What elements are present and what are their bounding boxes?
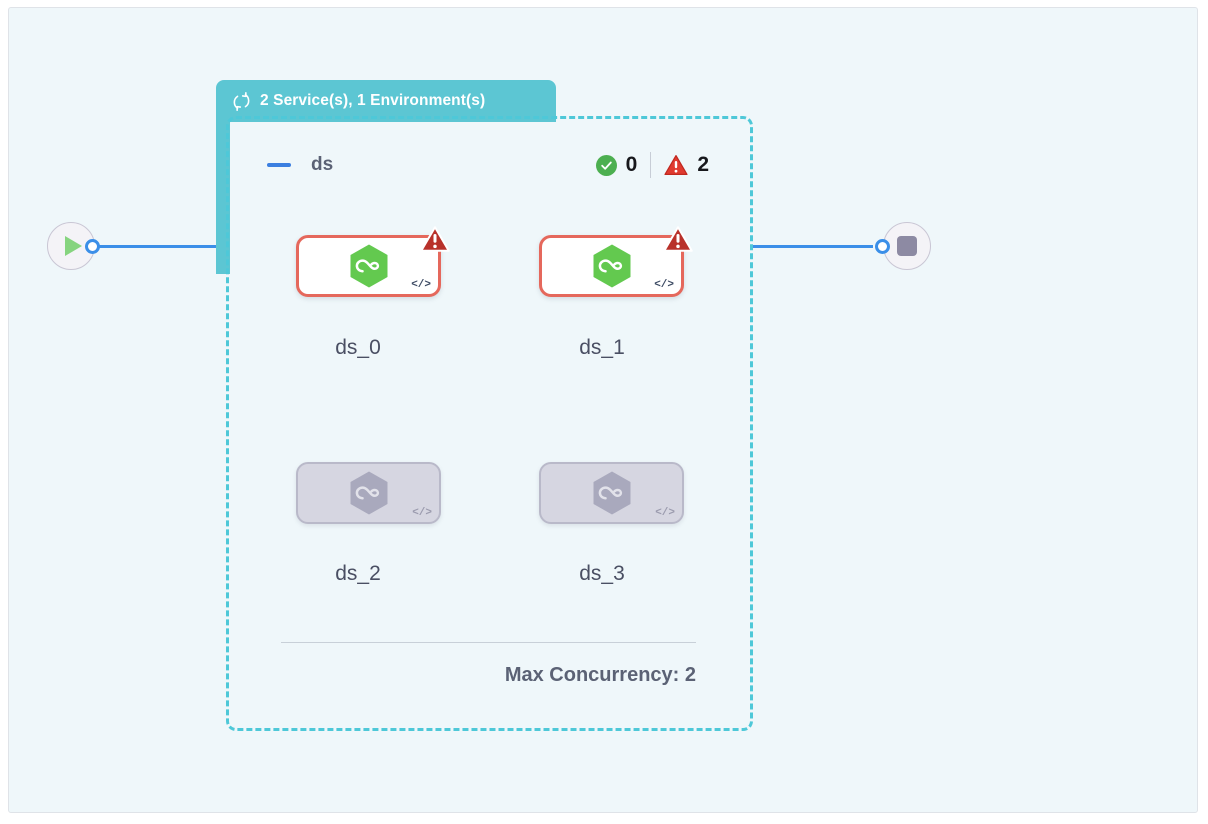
service-node-ds_3[interactable]: </> — [539, 462, 684, 524]
group-footer-divider — [281, 642, 696, 643]
collapse-minus-icon[interactable] — [267, 163, 291, 167]
warning-triangle-icon — [664, 154, 688, 176]
ok-count: 0 — [626, 153, 638, 177]
max-concurrency-label: Max Concurrency: 2 — [296, 664, 696, 687]
loop-icon — [232, 92, 251, 111]
service-node-ds_0[interactable]: </> — [296, 235, 441, 297]
status-separator — [650, 152, 651, 178]
check-circle-icon — [596, 155, 617, 176]
node-hexagon-icon — [591, 243, 633, 289]
group-tab-label: 2 Service(s), 1 Environment(s) — [260, 92, 485, 110]
diagram-canvas[interactable]: 2 Service(s), 1 Environment(s) ds 0 — [8, 7, 1198, 813]
workflow-canvas-page: 2 Service(s), 1 Environment(s) ds 0 — [0, 0, 1208, 824]
stop-icon — [897, 236, 917, 256]
edge-group-to-end[interactable] — [753, 245, 873, 248]
node-hexagon-icon — [348, 243, 390, 289]
warn-count: 2 — [697, 153, 709, 177]
service-node-label-ds_1: ds_1 — [502, 336, 702, 360]
group-container[interactable] — [226, 116, 753, 731]
service-node-ds_2[interactable]: </> — [296, 462, 441, 524]
code-icon: </> — [411, 279, 431, 291]
group-status-summary: 0 2 — [596, 152, 709, 178]
code-icon: </> — [412, 507, 432, 519]
service-node-label-ds_3: ds_3 — [502, 562, 702, 586]
node-hexagon-icon — [348, 470, 390, 516]
end-node[interactable] — [883, 222, 931, 270]
service-node-label-ds_2: ds_2 — [258, 562, 458, 586]
end-node-input-handle[interactable] — [875, 239, 890, 254]
group-title: ds — [311, 154, 333, 176]
service-node-label-ds_0: ds_0 — [258, 336, 458, 360]
code-icon: </> — [655, 507, 675, 519]
code-icon: </> — [654, 279, 674, 291]
warning-triangle-icon — [420, 225, 450, 253]
group-header: ds 0 2 — [267, 148, 709, 182]
edge-start-to-group[interactable] — [95, 245, 227, 248]
service-node-ds_1[interactable]: </> — [539, 235, 684, 297]
play-icon — [65, 236, 82, 256]
node-hexagon-icon — [591, 470, 633, 516]
warning-triangle-icon — [663, 225, 693, 253]
start-node-output-handle[interactable] — [85, 239, 100, 254]
